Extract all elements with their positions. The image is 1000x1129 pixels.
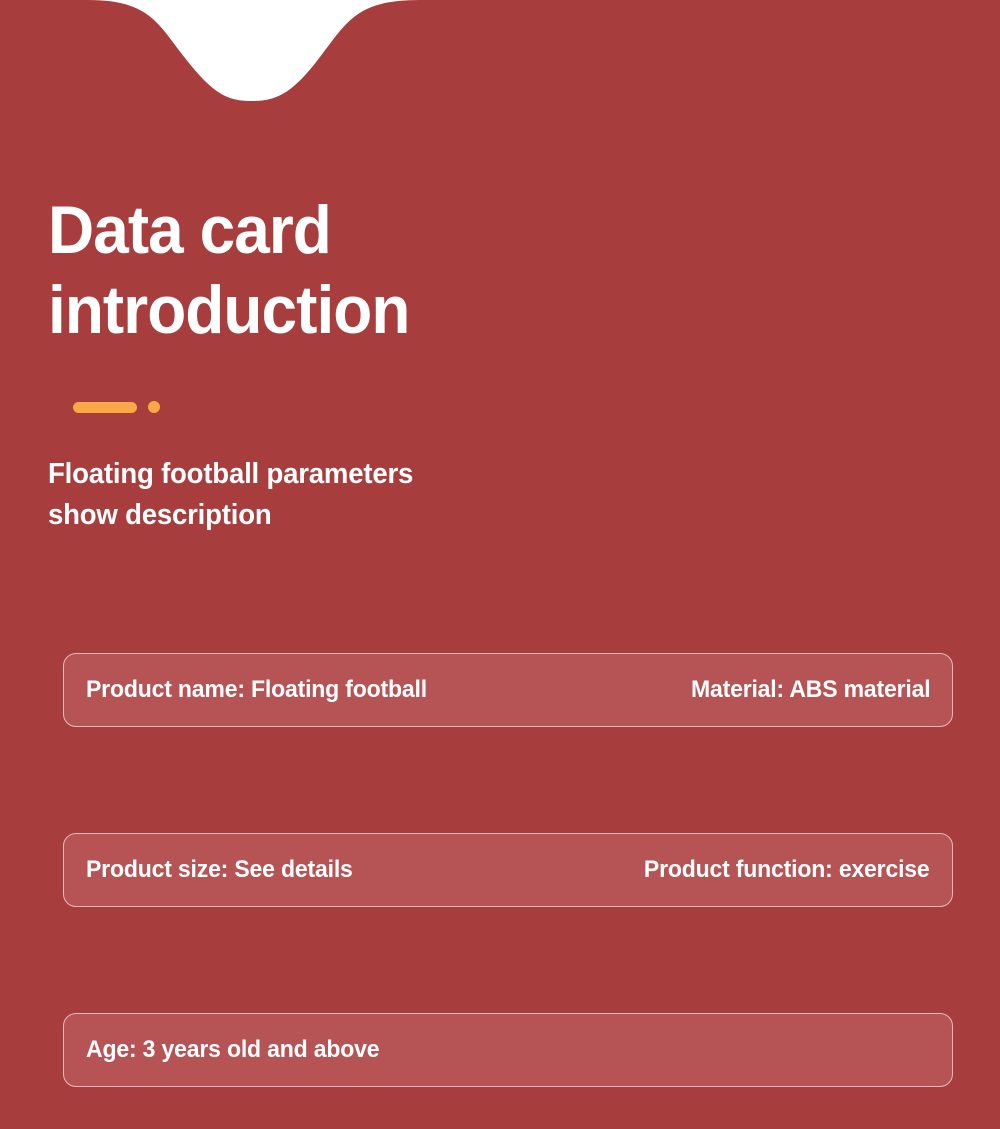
spec-label-left: Product size: See details (86, 856, 353, 884)
card-content: Data card introduction Floating football… (0, 0, 1000, 1129)
page-subtitle: Floating football parameters show descri… (48, 454, 580, 536)
spec-label-right: Material: ABS material (691, 676, 930, 704)
spec-list: Product name: Floating football Material… (63, 653, 953, 1087)
spec-label-left: Product name: Floating football (86, 676, 427, 704)
spec-label-left: Age: 3 years old and above (86, 1036, 379, 1064)
spec-label-right: Product function: exercise (644, 856, 930, 884)
spec-row: Product size: See details Product functi… (63, 833, 953, 907)
accent-dot-icon (148, 401, 160, 413)
spec-row: Product name: Floating football Material… (63, 653, 953, 727)
accent-marks (73, 401, 160, 413)
spec-row: Age: 3 years old and above (63, 1013, 953, 1087)
page-title: Data card introduction (48, 190, 612, 350)
data-card-page: Data card introduction Floating football… (0, 0, 1000, 1129)
accent-bar-icon (73, 402, 137, 413)
